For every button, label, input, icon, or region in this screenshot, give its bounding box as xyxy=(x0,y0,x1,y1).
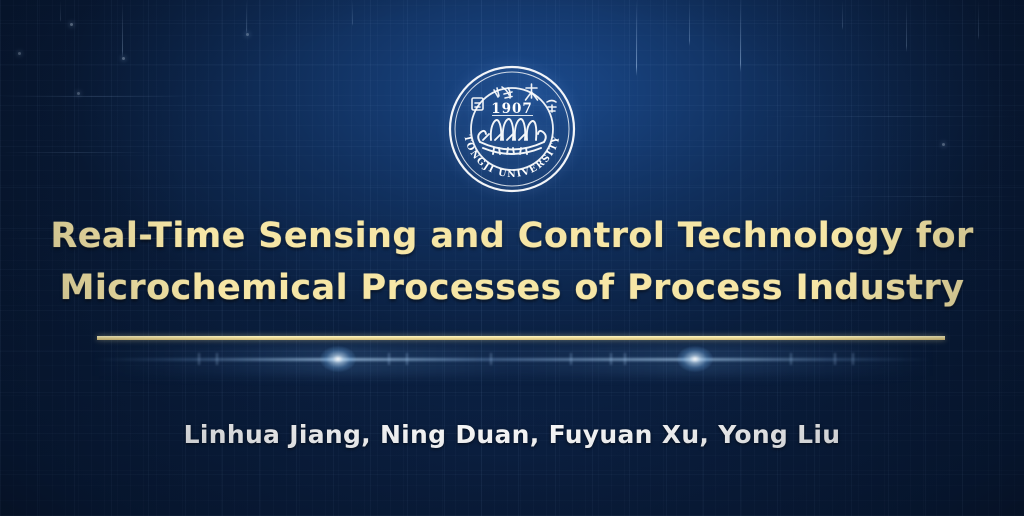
svg-text:1907: 1907 xyxy=(491,101,533,117)
presentation-title-slide: 1907 TONGJI U xyxy=(0,0,1024,516)
flare-point-left xyxy=(320,346,356,372)
author-list: Linhua Jiang, Ning Duan, Fuyuan Xu, Yong… xyxy=(0,420,1024,449)
title-line-2: Microchemical Processes of Process Indus… xyxy=(0,262,1024,314)
flare-haze xyxy=(90,344,934,376)
slide-title: Real-Time Sensing and Control Technology… xyxy=(0,210,1024,314)
tongji-university-logo: 1907 TONGJI U xyxy=(447,64,577,194)
flare-point-right xyxy=(677,346,713,372)
light-flare-band xyxy=(90,340,934,380)
flare-streak-line xyxy=(90,358,934,361)
gold-divider-line xyxy=(97,336,945,340)
title-line-1: Real-Time Sensing and Control Technology… xyxy=(0,210,1024,262)
